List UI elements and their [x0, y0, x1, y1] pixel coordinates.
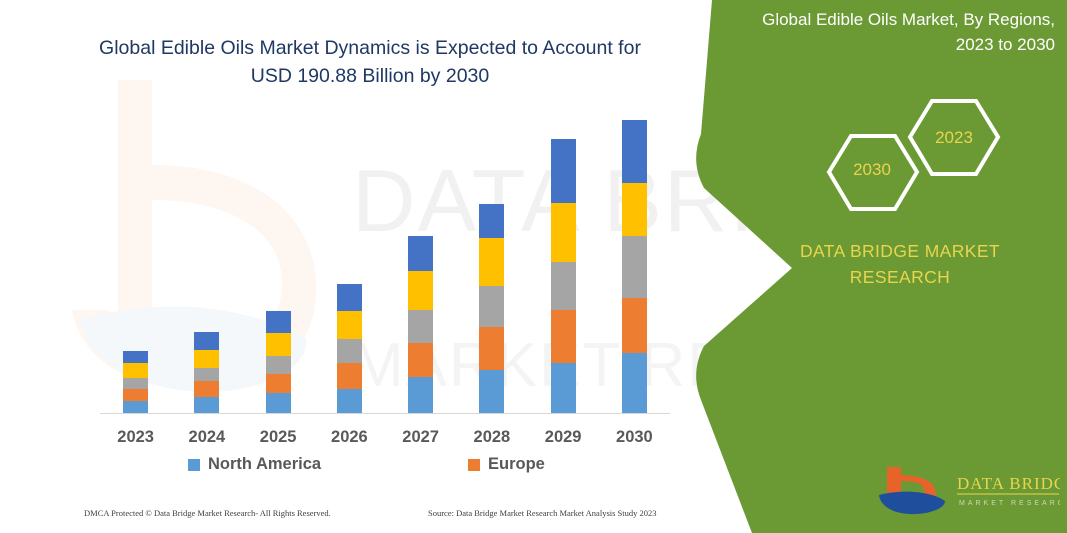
bar-segment-north-america[interactable]: [408, 377, 433, 414]
legend-item-europe[interactable]: Europe: [468, 455, 545, 474]
bar-segment-asia-pacific[interactable]: [337, 339, 362, 363]
chart-plot-area: [100, 120, 670, 414]
brand-name: DATA BRIDGE MARKET RESEARCH: [780, 238, 1020, 291]
logo-text-main: DATA BRIDGE: [957, 474, 1060, 493]
bar-segment-middle-east-and-africa[interactable]: [266, 311, 291, 332]
x-axis-label-2026: 2026: [314, 428, 384, 447]
bar-segment-asia-pacific[interactable]: [123, 378, 148, 389]
x-axis-label-2027: 2027: [386, 428, 456, 447]
bar-segment-middle-east-and-africa[interactable]: [551, 139, 576, 203]
bar-segment-asia-pacific[interactable]: [408, 310, 433, 343]
x-axis-label-2024: 2024: [172, 428, 242, 447]
panel-title-line1: Global Edible Oils Market, By Regions,: [762, 10, 1055, 29]
x-axis-label-2030: 2030: [599, 428, 669, 447]
logo-text-sub: MARKET RESEARCH: [959, 500, 1060, 507]
chart-legend: North AmericaEurope: [100, 455, 670, 481]
bar-segment-north-america[interactable]: [622, 353, 647, 414]
bar-segment-north-america[interactable]: [337, 389, 362, 414]
bar-segment-south-america[interactable]: [408, 271, 433, 310]
panel-title-line2: 2023 to 2030: [956, 35, 1055, 54]
bar-segment-asia-pacific[interactable]: [266, 356, 291, 374]
bar-2023[interactable]: [123, 351, 148, 414]
bar-segment-south-america[interactable]: [194, 350, 219, 368]
bar-segment-europe[interactable]: [266, 374, 291, 393]
bar-segment-middle-east-and-africa[interactable]: [479, 204, 504, 238]
bar-segment-middle-east-and-africa[interactable]: [337, 284, 362, 312]
brand-line1: DATA BRIDGE MARKET: [800, 241, 1000, 261]
panel-title: Global Edible Oils Market, By Regions, 2…: [745, 8, 1055, 57]
bar-segment-north-america[interactable]: [266, 393, 291, 414]
bar-segment-asia-pacific[interactable]: [479, 286, 504, 327]
hexagon-2030-label: 2030: [828, 160, 916, 180]
x-axis-label-2029: 2029: [528, 428, 598, 447]
bar-segment-south-america[interactable]: [123, 363, 148, 378]
bar-segment-north-america[interactable]: [551, 363, 576, 414]
bar-2028[interactable]: [479, 204, 504, 414]
bar-2024[interactable]: [194, 332, 219, 414]
bar-segment-south-america[interactable]: [479, 238, 504, 287]
infographic-root: DATA BRIDGE MARKET RESEARCH Global Edibl…: [0, 0, 1067, 533]
green-panel-content: Global Edible Oils Market, By Regions, 2…: [660, 0, 1067, 533]
bar-2030[interactable]: [622, 120, 647, 414]
bar-segment-europe[interactable]: [622, 298, 647, 353]
bar-segment-south-america[interactable]: [266, 333, 291, 356]
x-axis-label-2025: 2025: [243, 428, 313, 447]
legend-label: Europe: [488, 455, 545, 474]
bar-2029[interactable]: [551, 139, 576, 414]
legend-swatch-icon: [468, 459, 480, 471]
bar-segment-asia-pacific[interactable]: [194, 368, 219, 382]
bar-segment-europe[interactable]: [479, 327, 504, 369]
bar-chart: 20232024202520262027202820292030 North A…: [0, 0, 700, 533]
x-axis-label-2028: 2028: [457, 428, 527, 447]
bar-segment-europe[interactable]: [194, 381, 219, 397]
bar-2025[interactable]: [266, 311, 291, 414]
footer-source: Source: Data Bridge Market Research Mark…: [428, 508, 657, 518]
brand-line2: RESEARCH: [850, 267, 950, 287]
bar-segment-middle-east-and-africa[interactable]: [408, 236, 433, 271]
bar-segment-europe[interactable]: [408, 343, 433, 377]
hexagon-2023-label: 2023: [910, 128, 998, 148]
bar-segment-south-america[interactable]: [551, 203, 576, 262]
bar-segment-asia-pacific[interactable]: [622, 236, 647, 297]
bar-segment-north-america[interactable]: [194, 397, 219, 414]
chart-x-axis: [100, 413, 670, 414]
bar-segment-north-america[interactable]: [479, 370, 504, 414]
bar-segment-europe[interactable]: [551, 310, 576, 363]
bar-segment-middle-east-and-africa[interactable]: [622, 120, 647, 184]
legend-swatch-icon: [188, 459, 200, 471]
chart-x-axis-labels: 20232024202520262027202820292030: [100, 428, 670, 454]
bar-segment-europe[interactable]: [123, 389, 148, 402]
bar-segment-middle-east-and-africa[interactable]: [194, 332, 219, 350]
bar-segment-asia-pacific[interactable]: [551, 262, 576, 311]
bar-segment-south-america[interactable]: [337, 311, 362, 339]
legend-label: North America: [208, 455, 321, 474]
data-bridge-logo: DATA BRIDGE MARKET RESEARCH: [875, 465, 1060, 517]
bar-segment-middle-east-and-africa[interactable]: [123, 351, 148, 364]
legend-item-north-america[interactable]: North America: [188, 455, 321, 474]
footer-copyright: DMCA Protected © Data Bridge Market Rese…: [84, 508, 331, 518]
bar-2027[interactable]: [408, 236, 433, 414]
bar-segment-europe[interactable]: [337, 363, 362, 388]
x-axis-label-2023: 2023: [101, 428, 171, 447]
bar-2026[interactable]: [337, 284, 362, 414]
bar-segment-south-america[interactable]: [622, 183, 647, 236]
